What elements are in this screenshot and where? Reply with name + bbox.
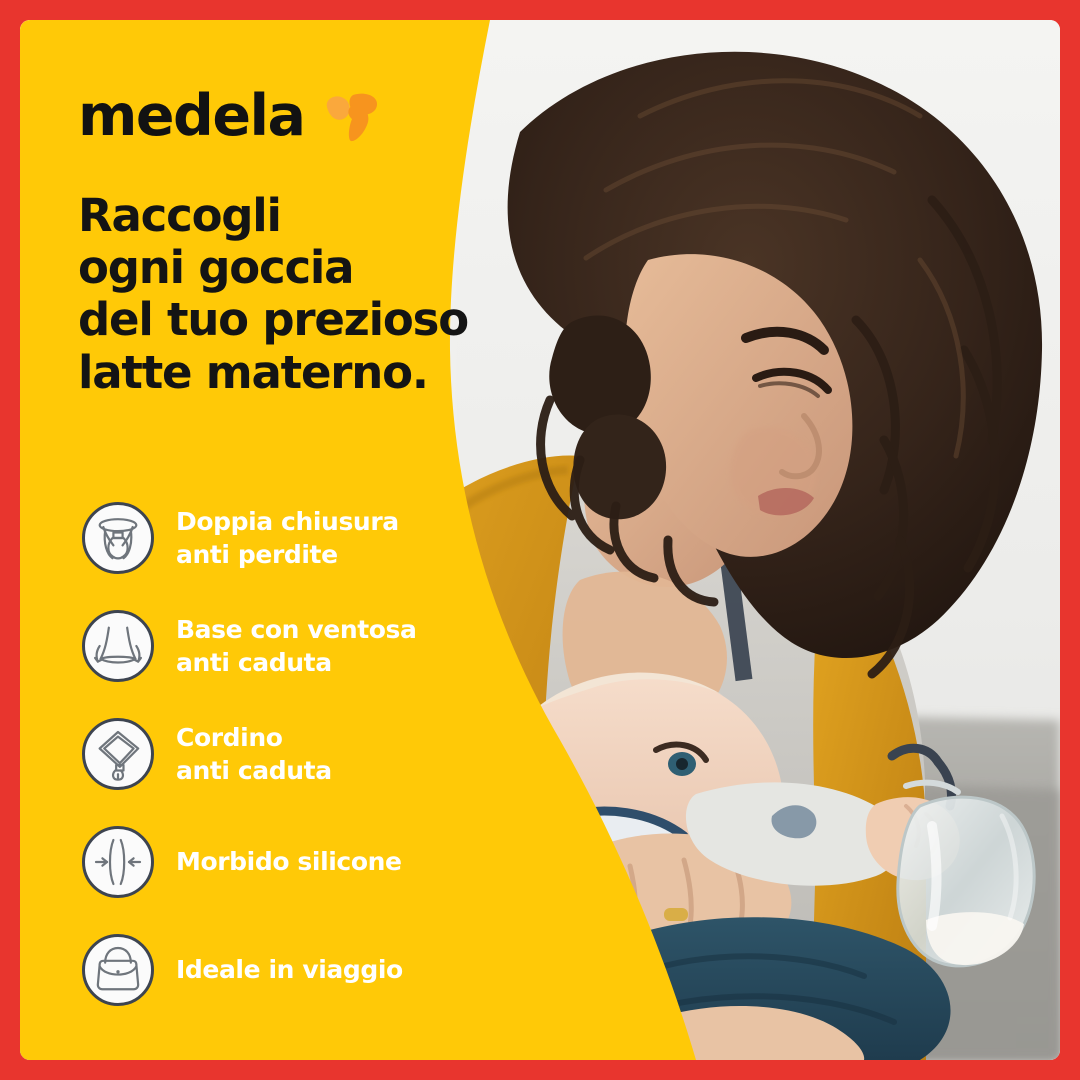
feature-label-line: anti perdite (176, 538, 399, 572)
feature-label-line: Morbido silicone (176, 845, 402, 879)
list-item: Cordino anti caduta (82, 700, 502, 808)
feature-label-line: anti caduta (176, 754, 332, 788)
breast-shield-icon (82, 502, 154, 574)
list-item: Doppia chiusura anti perdite (82, 484, 502, 592)
list-item: Morbido silicone (82, 808, 502, 916)
list-item: Base con ventosa anti caduta (82, 592, 502, 700)
list-item: Ideale in viaggio (82, 916, 502, 1024)
feature-label: Ideale in viaggio (176, 953, 403, 987)
brand-logo: medela (78, 88, 379, 145)
feature-label: Doppia chiusura anti perdite (176, 505, 399, 572)
feature-label: Morbido silicone (176, 845, 402, 879)
medela-petals-logo-icon (323, 91, 379, 143)
ad-canvas: medela Raccogli ogni goccia del tuo prez… (20, 20, 1060, 1060)
soft-silicone-squeeze-icon (82, 826, 154, 898)
feature-label-line: Doppia chiusura (176, 505, 399, 539)
lanyard-cord-icon (82, 718, 154, 790)
headline-line-3: del tuo prezioso (78, 294, 488, 346)
feature-label-line: Base con ventosa (176, 613, 417, 647)
feature-label: Cordino anti caduta (176, 721, 332, 788)
feature-label-line: anti caduta (176, 646, 417, 680)
handbag-icon (82, 934, 154, 1006)
headline: Raccogli ogni goccia del tuo prezioso la… (78, 190, 488, 399)
suction-base-icon (82, 610, 154, 682)
ad-creative: medela Raccogli ogni goccia del tuo prez… (0, 0, 1080, 1080)
headline-line-1: Raccogli (78, 190, 488, 242)
feature-list: Doppia chiusura anti perdite (82, 484, 502, 1024)
headline-line-2: ogni goccia (78, 242, 488, 294)
brand-wordmark: medela (78, 88, 305, 145)
feature-label: Base con ventosa anti caduta (176, 613, 417, 680)
headline-line-4: latte materno. (78, 347, 488, 399)
feature-label-line: Cordino (176, 721, 332, 755)
feature-label-line: Ideale in viaggio (176, 953, 403, 987)
